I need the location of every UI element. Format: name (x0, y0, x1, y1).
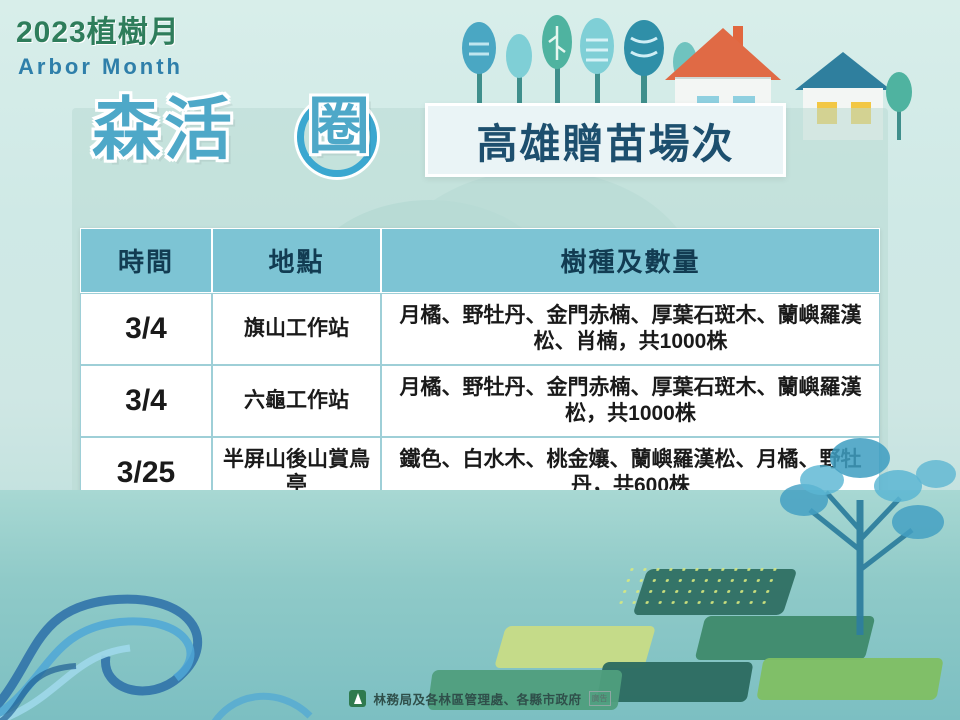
cell-species: 月橘、野牡丹、金門赤楠、厚葉石斑木、蘭嶼羅漢松、肖楠，共1000株 (381, 293, 880, 365)
logo-year-text: 2023植樹月 (16, 18, 180, 48)
poster-canvas: 2023植樹月 Arbor Month 森活 圈 高雄贈苗場次 時間 地點 樹種… (0, 0, 960, 720)
cell-time: 3/4 (80, 293, 212, 365)
footer-text: 林務局及各林區管理處、各縣市政府 (373, 689, 581, 708)
cell-place: 旗山工作站 (212, 293, 381, 365)
title-banner: 高雄贈苗場次 (425, 103, 786, 177)
cell-place: 六龜工作站 (212, 365, 381, 437)
column-header-place: 地點 (212, 228, 381, 293)
footer-credit: 林務局及各林區管理處、各縣市政府 廣告 (0, 689, 960, 708)
cell-time: 3/4 (80, 365, 212, 437)
page-title: 高雄贈苗場次 (477, 110, 735, 170)
agency-logo-icon (349, 690, 366, 707)
table-header: 時間 地點 樹種及數量 (80, 228, 880, 293)
column-header-species: 樹種及數量 (381, 228, 880, 293)
logo-english-text: Arbor Month (18, 56, 183, 78)
footer-badge: 廣告 (589, 691, 611, 706)
logo-ring-word: 圈 (308, 96, 374, 158)
column-header-time: 時間 (80, 228, 212, 293)
wave-decoration-icon (0, 480, 410, 720)
logo-main-word: 森活 (92, 96, 236, 164)
large-tree-icon (740, 380, 960, 640)
table-header-row: 時間 地點 樹種及數量 (80, 228, 880, 293)
table-row: 3/4 旗山工作站 月橘、野牡丹、金門赤楠、厚葉石斑木、蘭嶼羅漢松、肖楠，共10… (80, 293, 880, 365)
